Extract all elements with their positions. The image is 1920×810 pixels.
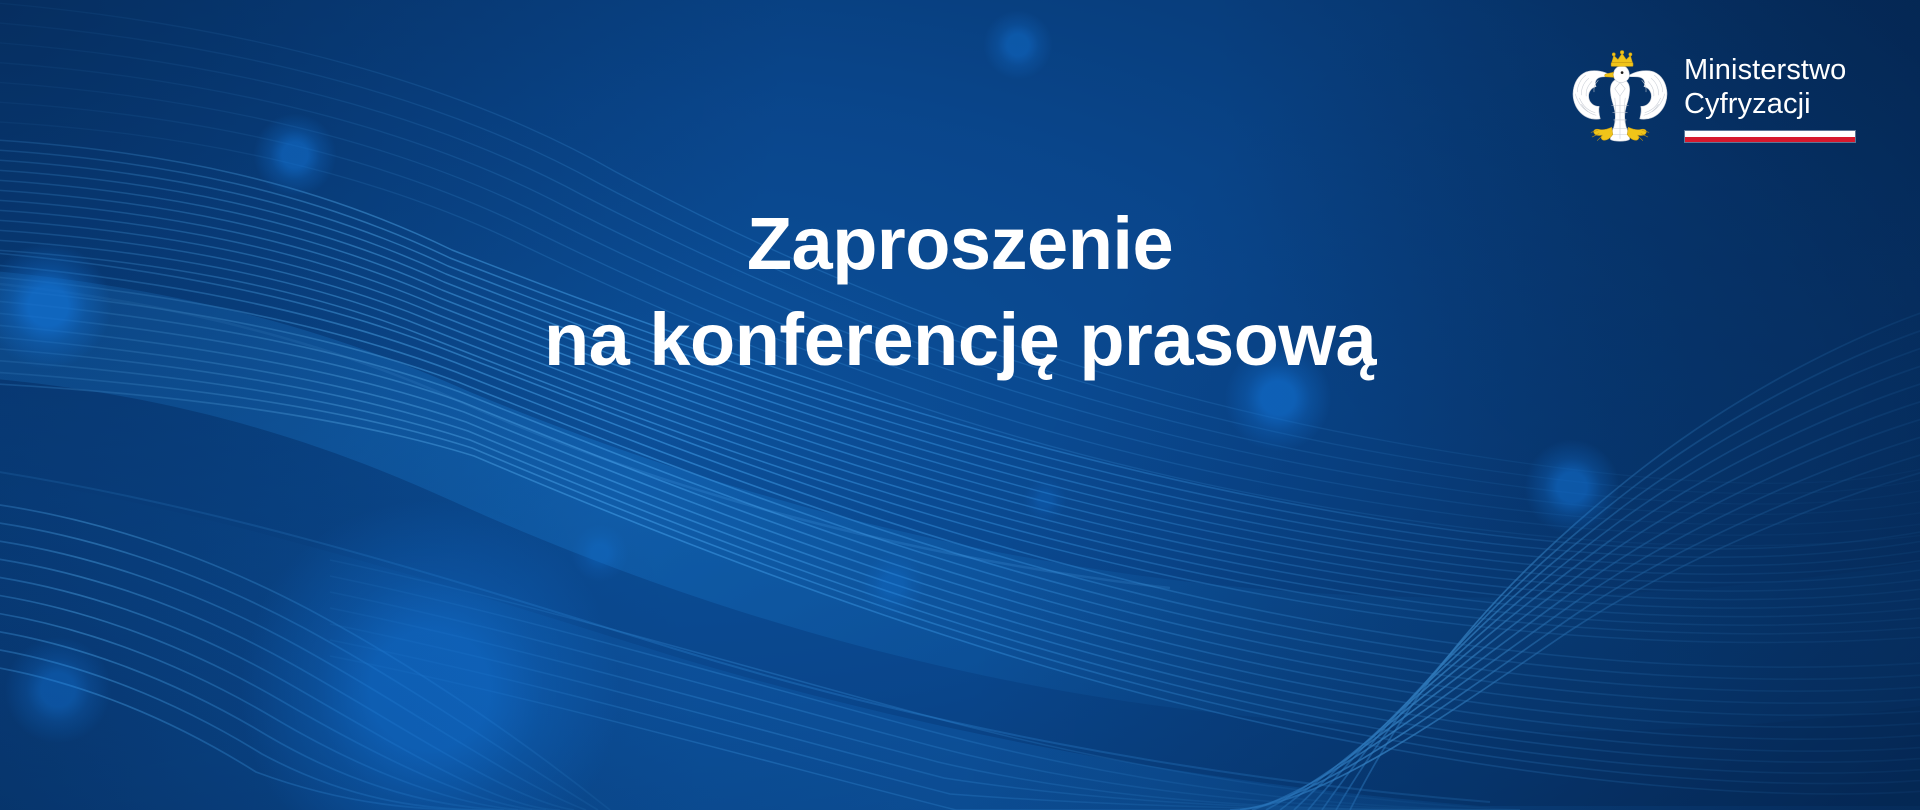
flag-stripe-red <box>1685 137 1855 143</box>
page-title: Zaproszenie na konferencję prasową <box>0 196 1920 388</box>
ministry-logo-text: Ministerstwo Cyfryzacji <box>1684 44 1856 143</box>
ministry-name-line-1: Ministerstwo <box>1684 53 1856 87</box>
slide-canvas: Zaproszenie na konferencję prasową <box>0 0 1920 810</box>
title-line-1: Zaproszenie <box>0 196 1920 292</box>
polish-eagle-icon <box>1568 44 1672 148</box>
title-line-2: na konferencję prasową <box>0 292 1920 388</box>
ministry-name-line-2: Cyfryzacji <box>1684 87 1856 121</box>
ministry-logo: Ministerstwo Cyfryzacji <box>1568 44 1856 148</box>
polish-flag-bar <box>1684 130 1856 143</box>
